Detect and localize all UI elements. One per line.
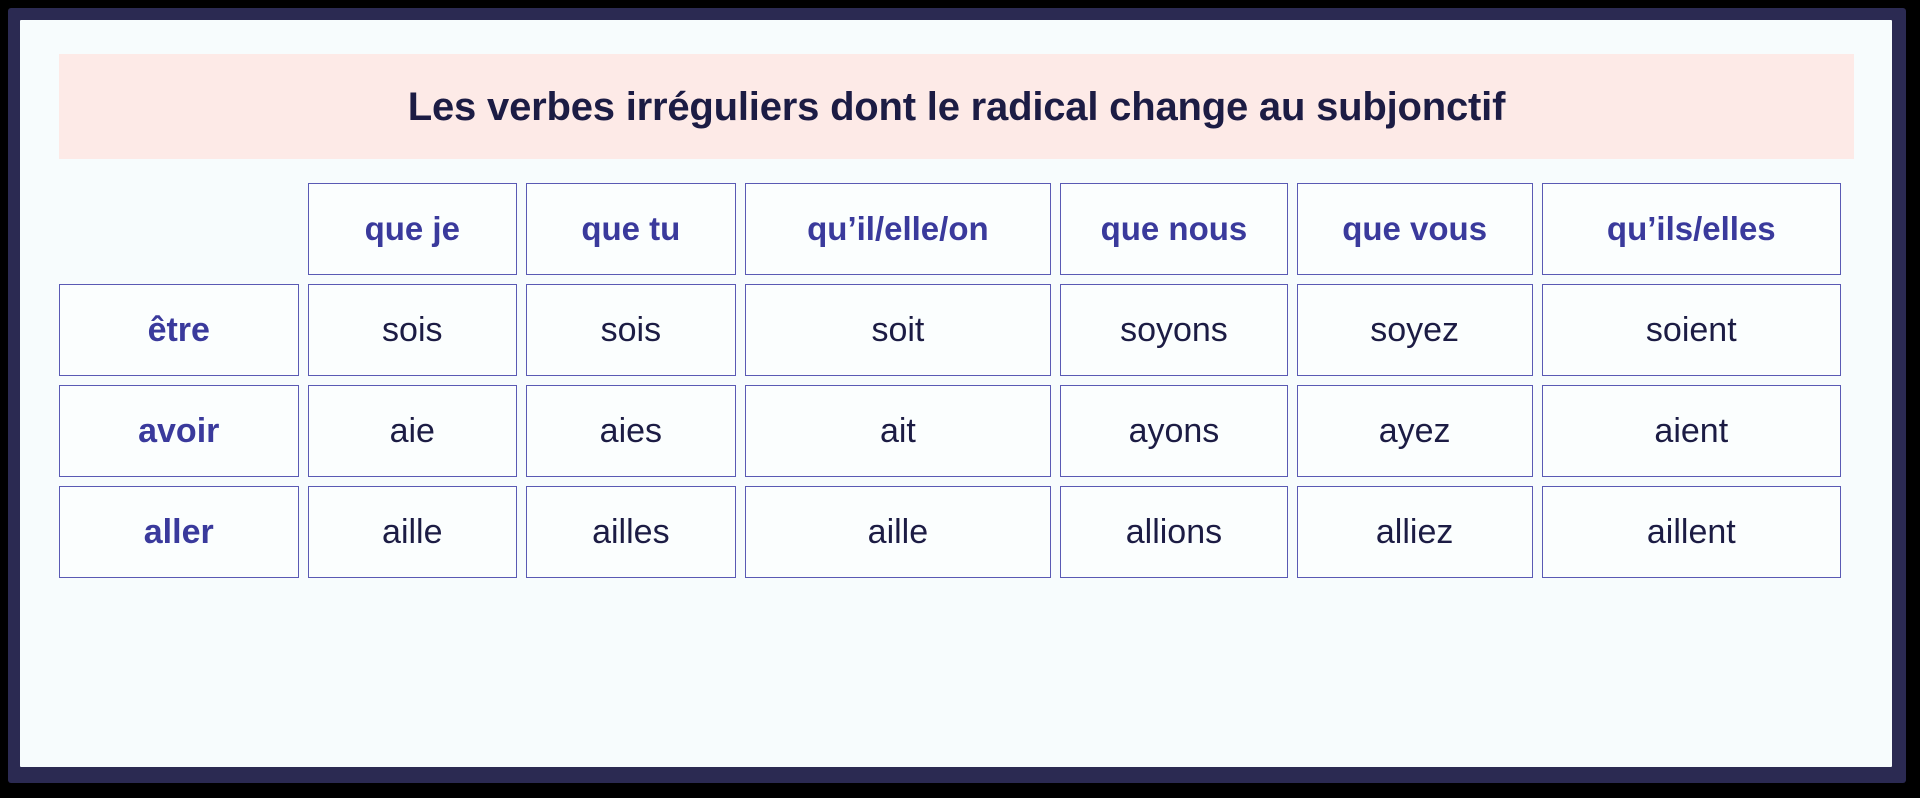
cell-etre-que-vous: soyez (1297, 284, 1533, 376)
cell-avoir-que-tu: aies (526, 385, 736, 477)
cell-aller-que-nous: allions (1060, 486, 1288, 578)
cell-etre-quils-elles: soient (1542, 284, 1841, 376)
table-header-row: que je que tu qu’il/elle/on que nous que… (59, 183, 1841, 275)
cell-aller-que-vous: alliez (1297, 486, 1533, 578)
cell-aller-quils-elles: aillent (1542, 486, 1841, 578)
row-label-etre: être (59, 284, 299, 376)
title-banner: Les verbes irréguliers dont le radical c… (59, 54, 1854, 159)
conjugation-table: que je que tu qu’il/elle/on que nous que… (50, 174, 1850, 587)
page-title: Les verbes irréguliers dont le radical c… (408, 85, 1505, 129)
row-label-avoir: avoir (59, 385, 299, 477)
row-label-aller: aller (59, 486, 299, 578)
column-header-quil-elle-on: qu’il/elle/on (745, 183, 1052, 275)
cell-avoir-que-nous: ayons (1060, 385, 1288, 477)
cell-aller-quil-elle-on: aille (745, 486, 1052, 578)
column-header-quils-elles: qu’ils/elles (1542, 183, 1841, 275)
cell-aller-que-je: aille (308, 486, 518, 578)
cell-avoir-que-vous: ayez (1297, 385, 1533, 477)
cell-etre-que-je: sois (308, 284, 518, 376)
column-header-que-vous: que vous (1297, 183, 1533, 275)
column-header-que-tu: que tu (526, 183, 736, 275)
cell-etre-que-nous: soyons (1060, 284, 1288, 376)
column-header-que-nous: que nous (1060, 183, 1288, 275)
cell-etre-quil-elle-on: soit (745, 284, 1052, 376)
cell-avoir-quil-elle-on: ait (745, 385, 1052, 477)
outer-frame: Les verbes irréguliers dont le radical c… (8, 8, 1906, 783)
cell-aller-que-tu: ailles (526, 486, 736, 578)
screenshot-root: Les verbes irréguliers dont le radical c… (0, 0, 1920, 798)
cell-avoir-que-je: aie (308, 385, 518, 477)
column-header-que-je: que je (308, 183, 518, 275)
table-row: avoir aie aies ait ayons ayez aient (59, 385, 1841, 477)
table-row: aller aille ailles aille allions alliez … (59, 486, 1841, 578)
conjugation-table-wrapper: que je que tu qu’il/elle/on que nous que… (59, 183, 1859, 587)
cell-etre-que-tu: sois (526, 284, 736, 376)
table-corner-cell (59, 183, 299, 275)
cell-avoir-quils-elles: aient (1542, 385, 1841, 477)
table-row: être sois sois soit soyons soyez soient (59, 284, 1841, 376)
content-card: Les verbes irréguliers dont le radical c… (20, 20, 1892, 767)
